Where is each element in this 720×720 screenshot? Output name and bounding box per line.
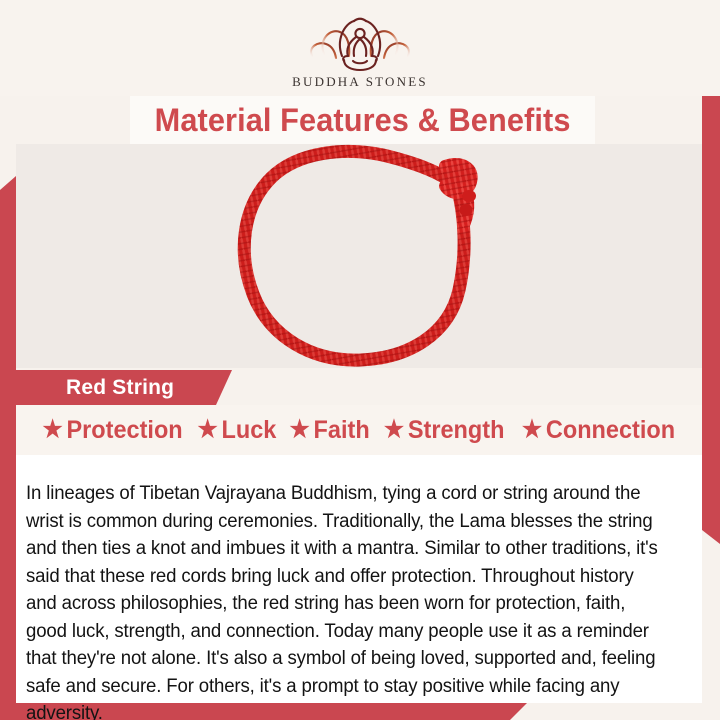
- page-title-band: Material Features & Benefits: [130, 96, 595, 144]
- red-braided-string-bracelet-graphic: [219, 144, 499, 368]
- poster-root: BUDDHA STONES Material Features & Benefi…: [0, 0, 720, 720]
- benefit-item-luck: ★ Luck: [198, 416, 277, 445]
- page-title: Material Features & Benefits: [155, 102, 571, 139]
- star-icon: ★: [290, 418, 310, 442]
- benefit-label: Connection: [546, 416, 675, 445]
- right-red-accent-bar: [702, 17, 720, 544]
- benefit-label: Faith: [314, 416, 370, 445]
- brand-header: BUDDHA STONES: [0, 0, 720, 96]
- benefit-label: Protection: [67, 416, 183, 445]
- product-name-ribbon: Red String: [16, 370, 232, 405]
- benefit-item-strength: ★ Strength: [384, 416, 505, 445]
- star-icon: ★: [384, 418, 404, 442]
- description-card: In lineages of Tibetan Vajrayana Buddhis…: [16, 455, 702, 703]
- star-icon: ★: [522, 418, 542, 442]
- benefits-list: ★ Protection ★ Luck ★ Faith ★ Strength ★…: [16, 405, 702, 455]
- left-red-accent-bar: [0, 176, 16, 703]
- product-name-label: Red String: [16, 376, 174, 400]
- benefit-label: Luck: [222, 416, 277, 445]
- star-icon: ★: [198, 418, 218, 442]
- lotus-meditation-icon: [304, 16, 416, 72]
- benefit-item-connection: ★ Connection: [522, 416, 675, 445]
- brand-name-text: BUDDHA STONES: [270, 74, 450, 90]
- product-image: [16, 144, 702, 368]
- star-icon: ★: [43, 418, 63, 442]
- brand-logo: BUDDHA STONES: [270, 16, 450, 90]
- description-paragraph: In lineages of Tibetan Vajrayana Buddhis…: [26, 480, 665, 720]
- benefit-item-protection: ★ Protection: [43, 416, 183, 445]
- benefit-label: Strength: [408, 416, 505, 445]
- benefit-item-faith: ★ Faith: [290, 416, 370, 445]
